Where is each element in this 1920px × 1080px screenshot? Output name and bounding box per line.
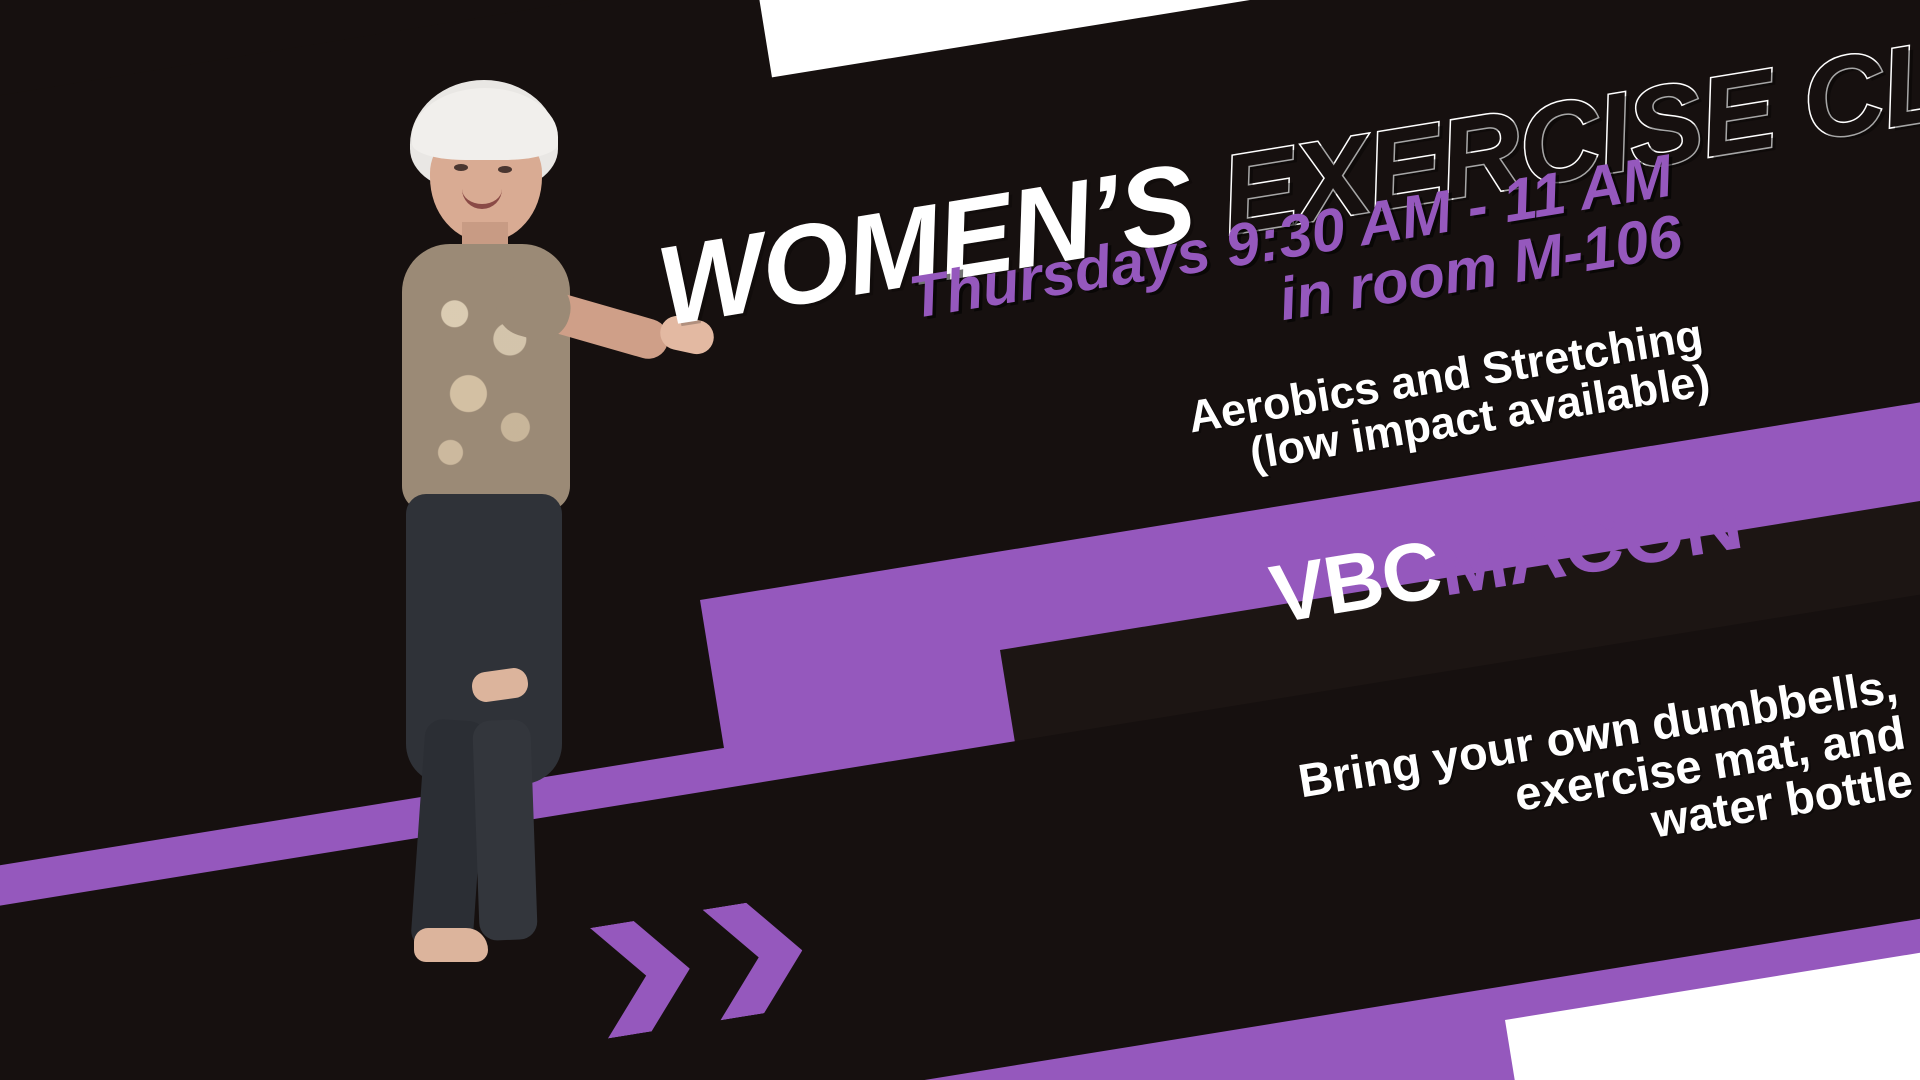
left-eye (454, 164, 468, 171)
right-eye (498, 166, 512, 173)
right-leg (472, 719, 538, 941)
chevron-right-icon (703, 895, 812, 1020)
poster-canvas: WOMEN’S EXERCISE CLASS Thursdays 9:30 AM… (0, 0, 1920, 1080)
standing-foot (414, 928, 488, 962)
woman-exercising-photo (330, 80, 630, 960)
chevron-right-icon (590, 913, 699, 1038)
